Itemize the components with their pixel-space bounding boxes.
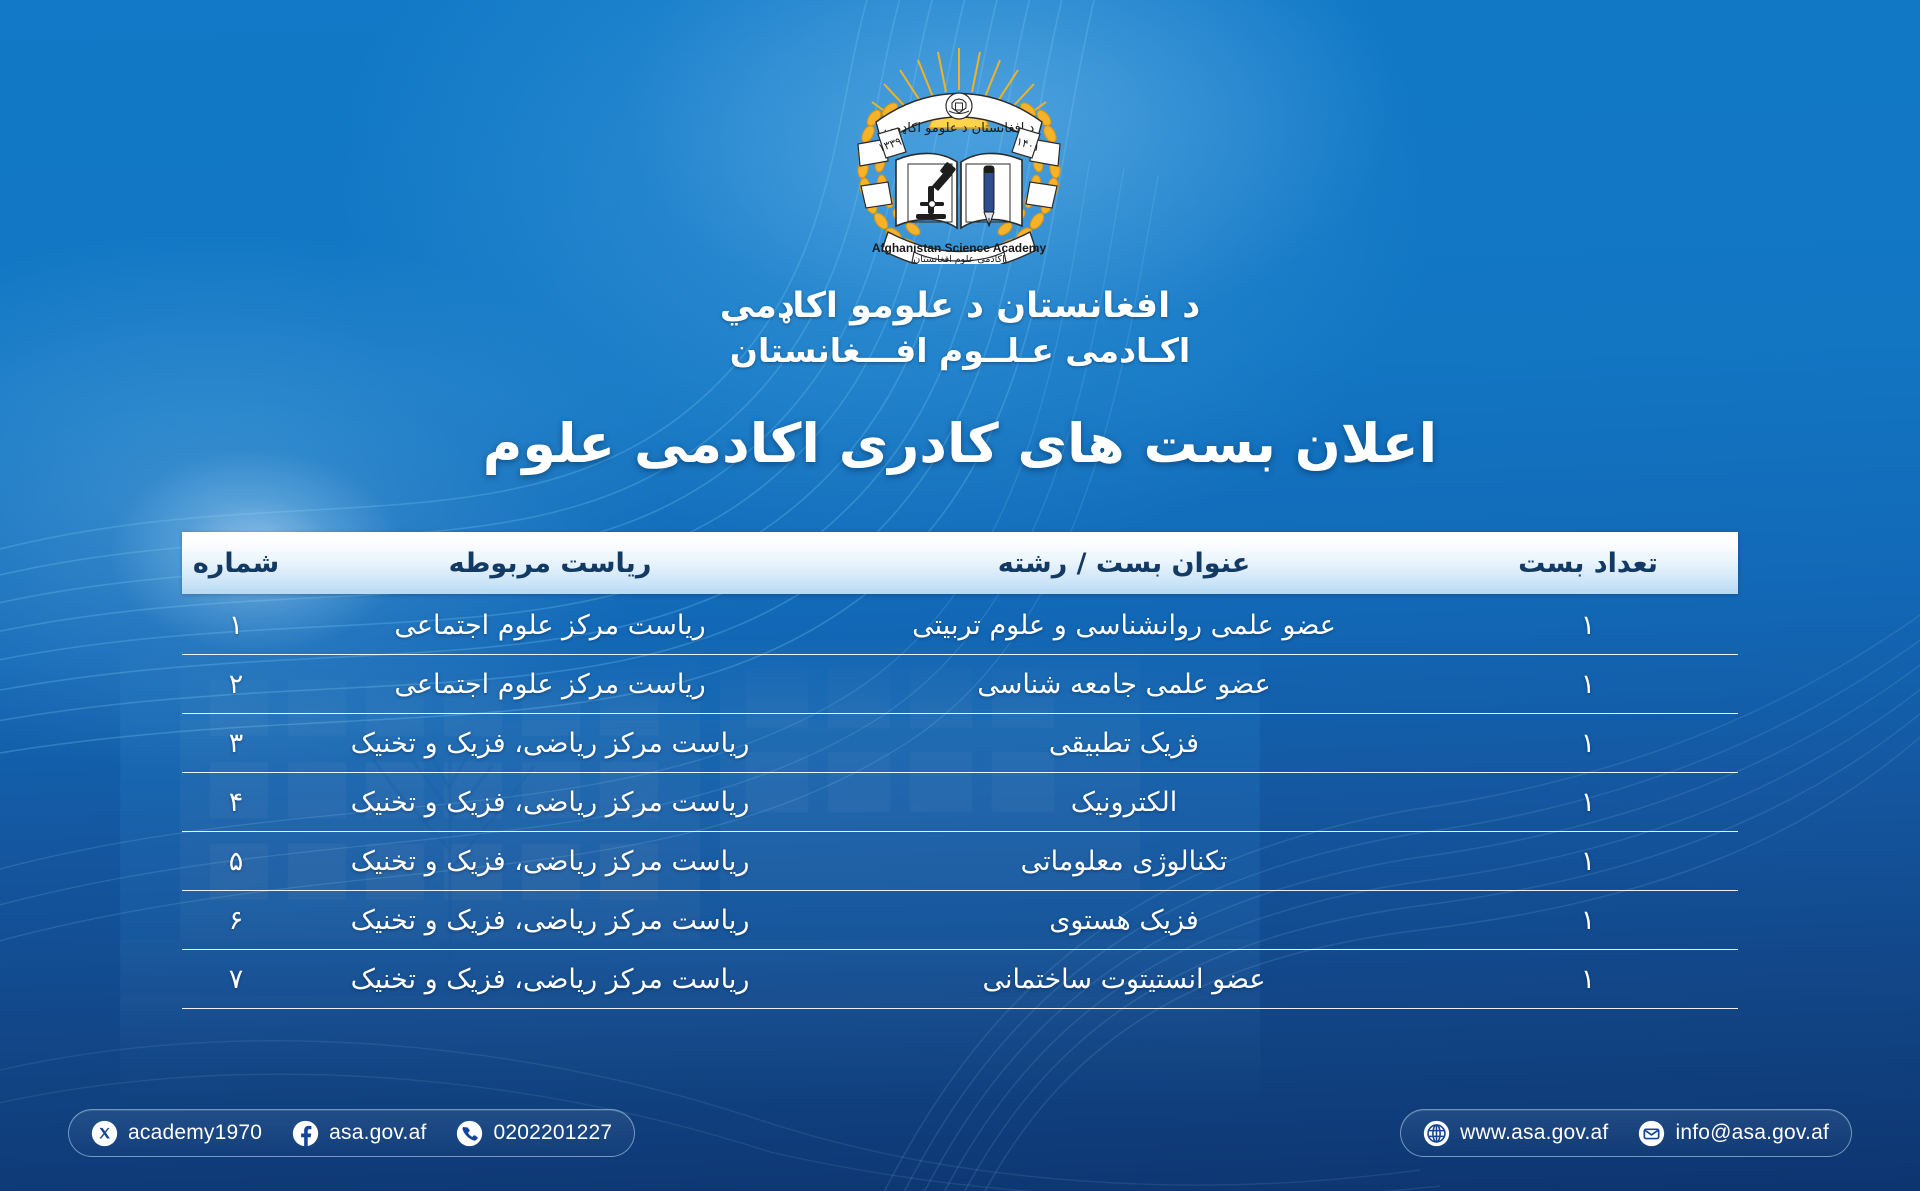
cell-number: ۴: [182, 787, 290, 818]
cell-position: فزیک تطبیقی: [810, 728, 1438, 759]
cell-number: ۶: [182, 905, 290, 936]
page-title: اعلان بست های کادری اکادمی علوم: [0, 412, 1920, 477]
cell-department: ریاست مرکز ریاضی، فزیک و تخنیک: [290, 728, 810, 759]
cell-position: عضو علمی روانشناسی و علوم تربیتی: [810, 610, 1438, 641]
cell-department: ریاست مرکز علوم اجتماعی: [290, 669, 810, 700]
column-header-count: تعداد بست: [1438, 548, 1738, 579]
column-header-number: شماره: [182, 548, 290, 579]
org-name-dari: اکـادمی عـلــوم افـــغانستان: [0, 329, 1920, 373]
cell-count: ۱: [1438, 787, 1738, 818]
svg-text:Afghanistan Science Academy: Afghanistan Science Academy: [872, 241, 1047, 255]
table-row: ۱عضو علمی روانشناسی و علوم تربیتیریاست م…: [182, 596, 1738, 655]
cell-count: ۱: [1438, 964, 1738, 995]
svg-text:اکادمی علوم افغانستان: اکادمی علوم افغانستان: [913, 254, 1004, 264]
table-row: ۱تکنالوژی معلوماتیریاست مرکز ریاضی، فزیک…: [182, 832, 1738, 891]
column-header-position: عنوان بست / رشته: [810, 548, 1438, 579]
contact-globe[interactable]: www.asa.gov.af: [1423, 1120, 1608, 1147]
academy-logo: د افغانستان د علومو اکاډمي ۱۳۳۹ ۱۴۰۱: [828, 36, 1090, 264]
cell-position: عضو علمی جامعه شناسی: [810, 669, 1438, 700]
contact-x-twitter[interactable]: academy1970: [91, 1120, 262, 1147]
org-name-pashto: د افغانستان د علومو اکاډمي: [0, 284, 1920, 329]
cell-number: ۲: [182, 669, 290, 700]
column-header-department: ریاست مربوطه: [290, 548, 810, 579]
table-header-row: تعداد بست عنوان بست / رشته ریاست مربوطه …: [182, 532, 1738, 594]
cell-count: ۱: [1438, 846, 1738, 877]
cell-position: تکنالوژی معلوماتی: [810, 846, 1438, 877]
cell-count: ۱: [1438, 610, 1738, 641]
social-contact-bar: academy1970asa.gov.af0202201227: [68, 1109, 635, 1157]
web-contact-bar: www.asa.gov.afinfo@asa.gov.af: [1400, 1109, 1852, 1157]
cell-position: الکترونیک: [810, 787, 1438, 818]
table-body: ۱عضو علمی روانشناسی و علوم تربیتیریاست م…: [182, 596, 1738, 1009]
x-twitter-icon: [91, 1120, 118, 1147]
cell-number: ۷: [182, 964, 290, 995]
poster-canvas: د افغانستان د علومو اکاډمي ۱۳۳۹ ۱۴۰۱: [0, 0, 1920, 1191]
cell-department: ریاست مرکز علوم اجتماعی: [290, 610, 810, 641]
contact-phone[interactable]: 0202201227: [456, 1120, 612, 1147]
phone-icon: [456, 1120, 483, 1147]
contact-label: asa.gov.af: [329, 1121, 426, 1145]
facebook-icon: [292, 1120, 319, 1147]
cell-department: ریاست مرکز ریاضی، فزیک و تخنیک: [290, 787, 810, 818]
cell-count: ۱: [1438, 669, 1738, 700]
globe-icon: [1423, 1120, 1450, 1147]
cell-number: ۳: [182, 728, 290, 759]
cell-count: ۱: [1438, 905, 1738, 936]
cell-department: ریاست مرکز ریاضی، فزیک و تخنیک: [290, 964, 810, 995]
table-row: ۱عضو انستیتوت ساختمانیریاست مرکز ریاضی، …: [182, 950, 1738, 1009]
table-row: ۱فزیک هستویریاست مرکز ریاضی، فزیک و تخنی…: [182, 891, 1738, 950]
contact-label: academy1970: [128, 1121, 262, 1145]
cell-count: ۱: [1438, 728, 1738, 759]
table-row: ۱فزیک تطبیقیریاست مرکز ریاضی، فزیک و تخن…: [182, 714, 1738, 773]
cell-number: ۱: [182, 610, 290, 641]
table-row: ۱عضو علمی جامعه شناسیریاست مرکز علوم اجت…: [182, 655, 1738, 714]
cell-position: عضو انستیتوت ساختمانی: [810, 964, 1438, 995]
table-row: ۱الکترونیکریاست مرکز ریاضی، فزیک و تخنیک…: [182, 773, 1738, 832]
contact-facebook[interactable]: asa.gov.af: [292, 1120, 426, 1147]
organization-titles: د افغانستان د علومو اکاډمي اکـادمی عـلــ…: [0, 284, 1920, 372]
contact-label: www.asa.gov.af: [1460, 1121, 1608, 1145]
contact-label: 0202201227: [493, 1121, 612, 1145]
cell-department: ریاست مرکز ریاضی، فزیک و تخنیک: [290, 905, 810, 936]
cell-number: ۵: [182, 846, 290, 877]
contact-envelope[interactable]: info@asa.gov.af: [1638, 1120, 1829, 1147]
envelope-icon: [1638, 1120, 1665, 1147]
svg-text:د افغانستان د علومو اکاډمي: د افغانستان د علومو اکاډمي: [884, 121, 1035, 136]
cell-position: فزیک هستوی: [810, 905, 1438, 936]
contact-label: info@asa.gov.af: [1675, 1121, 1829, 1145]
vacancy-table: تعداد بست عنوان بست / رشته ریاست مربوطه …: [182, 532, 1738, 1009]
cell-department: ریاست مرکز ریاضی، فزیک و تخنیک: [290, 846, 810, 877]
